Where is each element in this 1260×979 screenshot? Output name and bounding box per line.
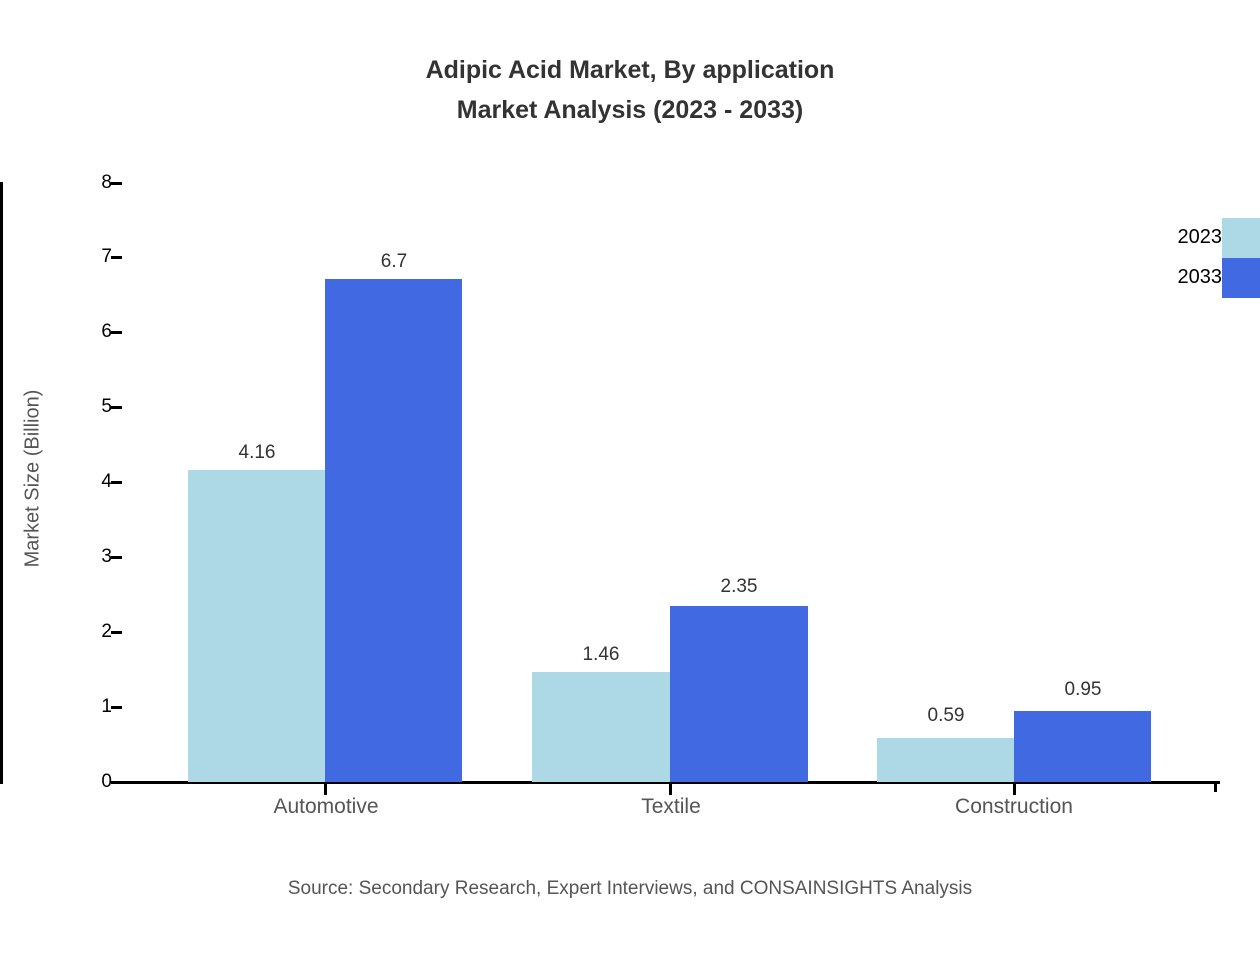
legend-item-2023[interactable]: 2023 xyxy=(1100,218,1260,258)
y-tick-mark-2 xyxy=(111,631,122,634)
chart-title: Adipic Acid Market, By application Marke… xyxy=(0,50,1260,130)
chart-figure: Adipic Acid Market, By application Marke… xyxy=(0,0,1260,920)
legend-label-2033: 2033 xyxy=(1112,266,1222,289)
y-tick-label-3: 3 xyxy=(52,547,112,566)
y-tick-mark-8 xyxy=(111,182,122,185)
bar-value-automotive-2023: 4.16 xyxy=(177,442,337,464)
y-tick-mark-6 xyxy=(111,331,122,334)
x-tick-mark-automotive xyxy=(324,783,327,795)
y-tick-label-8: 8 xyxy=(52,173,112,192)
bar-construction-2023[interactable] xyxy=(877,738,1014,782)
source-note: Source: Secondary Research, Expert Inter… xyxy=(0,878,1260,900)
bar-value-construction-2033: 0.95 xyxy=(1003,679,1163,701)
y-tick-label-0: 0 xyxy=(52,772,112,791)
x-tick-mark-textile xyxy=(669,783,672,795)
bar-value-textile-2033: 2.35 xyxy=(659,576,819,598)
y-tick-mark-7 xyxy=(111,256,122,259)
legend-swatch-2023 xyxy=(1222,218,1260,258)
y-tick-mark-4 xyxy=(111,481,122,484)
y-tick-mark-5 xyxy=(111,406,122,409)
y-axis-label: Market Size (Billion) xyxy=(22,0,45,979)
bar-value-textile-2023: 1.46 xyxy=(521,644,681,666)
x-tick-label-textile: Textile xyxy=(521,795,821,819)
bar-textile-2033[interactable] xyxy=(670,606,808,782)
x-tick-label-automotive: Automotive xyxy=(176,795,476,819)
bar-textile-2023[interactable] xyxy=(532,672,670,782)
y-axis-line xyxy=(0,182,3,784)
y-tick-mark-0 xyxy=(111,781,122,784)
y-tick-label-5: 5 xyxy=(52,397,112,416)
x-tick-label-construction: Construction xyxy=(864,795,1164,819)
y-tick-label-2: 2 xyxy=(52,622,112,641)
y-tick-mark-1 xyxy=(111,706,122,709)
bar-value-automotive-2033: 6.7 xyxy=(314,251,474,273)
y-tick-label-1: 1 xyxy=(52,697,112,716)
y-tick-mark-3 xyxy=(111,556,122,559)
bar-automotive-2023[interactable] xyxy=(188,470,325,782)
bar-value-construction-2023: 0.59 xyxy=(866,705,1026,727)
legend-swatch-2033 xyxy=(1222,258,1260,298)
legend-item-2033[interactable]: 2033 xyxy=(1100,258,1260,298)
y-tick-label-4: 4 xyxy=(52,472,112,491)
y-tick-label-7: 7 xyxy=(52,247,112,266)
x-axis-end-cap xyxy=(1214,781,1217,792)
bar-construction-2033[interactable] xyxy=(1014,711,1151,782)
bar-automotive-2033[interactable] xyxy=(325,279,462,782)
legend-label-2023: 2023 xyxy=(1112,226,1222,249)
y-tick-label-6: 6 xyxy=(52,322,112,341)
chart-legend: 2023 2033 xyxy=(1100,216,1260,308)
x-tick-mark-construction xyxy=(1013,783,1016,795)
